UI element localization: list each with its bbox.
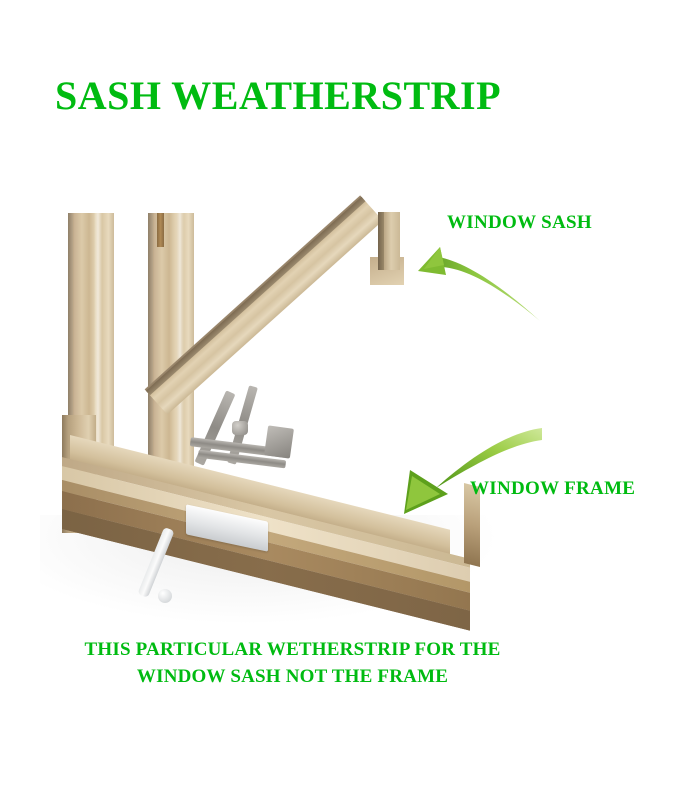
wood-shadow-edge — [378, 212, 384, 270]
mortise-groove — [157, 213, 164, 247]
curved-arrow-to-window-sash — [400, 235, 550, 335]
arrow-tail — [438, 257, 540, 321]
diagram-page: SASH WEATHERSTRIP — [0, 0, 699, 805]
arrow-tail — [436, 428, 542, 488]
friction-stay-hinge — [180, 385, 310, 475]
hinge-bracket — [264, 425, 294, 458]
wood-shadow-edge — [148, 213, 153, 485]
caption-line-1: THIS PARTICULAR WETHERSTRIP FOR THE — [0, 639, 585, 661]
hinge-pivot — [232, 421, 248, 435]
window-sash-top-vertical — [378, 212, 400, 270]
caption-line-2: WINDOW SASH NOT THE FRAME — [0, 666, 585, 688]
curved-arrow-to-window-frame — [392, 418, 552, 528]
page-title: SASH WEATHERSTRIP — [55, 72, 501, 119]
sash-weatherstrip-tip — [158, 589, 172, 603]
label-window-sash: WINDOW SASH — [447, 212, 592, 234]
